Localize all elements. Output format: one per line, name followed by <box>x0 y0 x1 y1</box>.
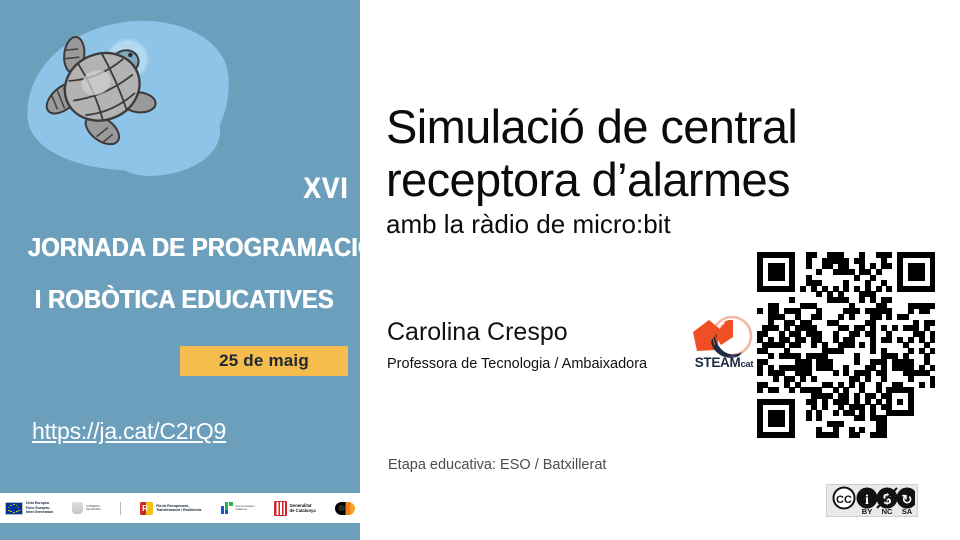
svg-text:NC: NC <box>882 507 893 515</box>
funder-logo-eu: Unió Europea Fons Europeu Next Generatio… <box>5 501 53 514</box>
funder-logo-cesire <box>335 502 355 515</box>
space-turtle-icon <box>30 32 170 152</box>
creative-commons-license-badge[interactable]: CC i $ ↻ BY NC SA <box>826 484 918 517</box>
funder-logo-next-generation-catalunya: Next Generation Catalunya <box>221 502 255 514</box>
steamcat-wordmark: STEAMcat <box>683 355 765 370</box>
educational-stage-note: Etapa educativa: ESO / Batxillerat <box>388 457 606 473</box>
author-role: Professora de Tecnologia / Ambaixadora <box>387 356 647 372</box>
event-title-line-2: I ROBÒTICA EDUCATIVES <box>28 284 341 315</box>
prtr-icon <box>140 502 153 515</box>
slide-title-block: Simulació de central receptora d’alarmes… <box>386 100 886 239</box>
funder-logos-strip: Unió Europea Fons Europeu Next Generatio… <box>0 493 360 523</box>
steamcat-wordmark-suffix: cat <box>740 359 753 370</box>
slide-subtitle: amb la ràdio de micro:bit <box>386 209 886 239</box>
presentation-slide: XVI JORNADA DE PROGRAMACIÓ I ROBÒTICA ED… <box>0 0 960 540</box>
next-generation-catalunya-icon <box>221 502 233 514</box>
spain-government-emblem-icon <box>72 502 83 514</box>
event-date-label: 25 de maig <box>219 351 309 371</box>
steamcat-wordmark-main: STEAM <box>695 355 741 370</box>
funder-divider <box>120 502 121 515</box>
funder-logo-prtr: Pla de Recuperació, Transformació i Resi… <box>140 502 201 515</box>
funder-eu-line-3: Next Generation <box>26 510 53 514</box>
qr-code[interactable] <box>757 252 935 438</box>
funder-spain-line-2: DE ESPAÑA <box>86 508 101 511</box>
funder-gencat-line-2: de Catalunya <box>290 508 316 513</box>
slide-title-line-1: Simulació de central <box>386 100 886 153</box>
funder-logo-generalitat: Generalitat de Catalunya <box>274 501 316 516</box>
funder-prtr-line-2: Transformació i Resiliència <box>156 508 201 512</box>
event-url-link[interactable]: https://ja.cat/C2rQ9 <box>32 418 226 445</box>
svg-text:SA: SA <box>902 507 913 515</box>
cesire-icon <box>335 502 355 515</box>
event-title-line-1: JORNADA DE PROGRAMACIÓ <box>28 232 341 263</box>
funder-ngen-line-2: Catalunya <box>236 508 255 511</box>
slide-title-line-2: receptora d’alarmes <box>386 153 886 206</box>
author-name: Carolina Crespo <box>387 318 568 347</box>
eu-flag-icon <box>5 502 23 515</box>
svg-text:↻: ↻ <box>902 492 913 507</box>
svg-text:i: i <box>865 493 869 508</box>
svg-text:BY: BY <box>862 507 872 515</box>
edition-number: XVI <box>303 172 348 206</box>
event-poster-panel: XVI JORNADA DE PROGRAMACIÓ I ROBÒTICA ED… <box>0 0 360 540</box>
cc-by-nc-sa-icon: CC i $ ↻ BY NC SA <box>829 486 915 515</box>
funder-logo-spain-government: GOBIERNO DE ESPAÑA <box>72 502 101 514</box>
svg-text:CC: CC <box>836 494 852 506</box>
generalitat-catalunya-icon <box>274 501 287 516</box>
event-date-badge: 25 de maig <box>180 346 348 376</box>
